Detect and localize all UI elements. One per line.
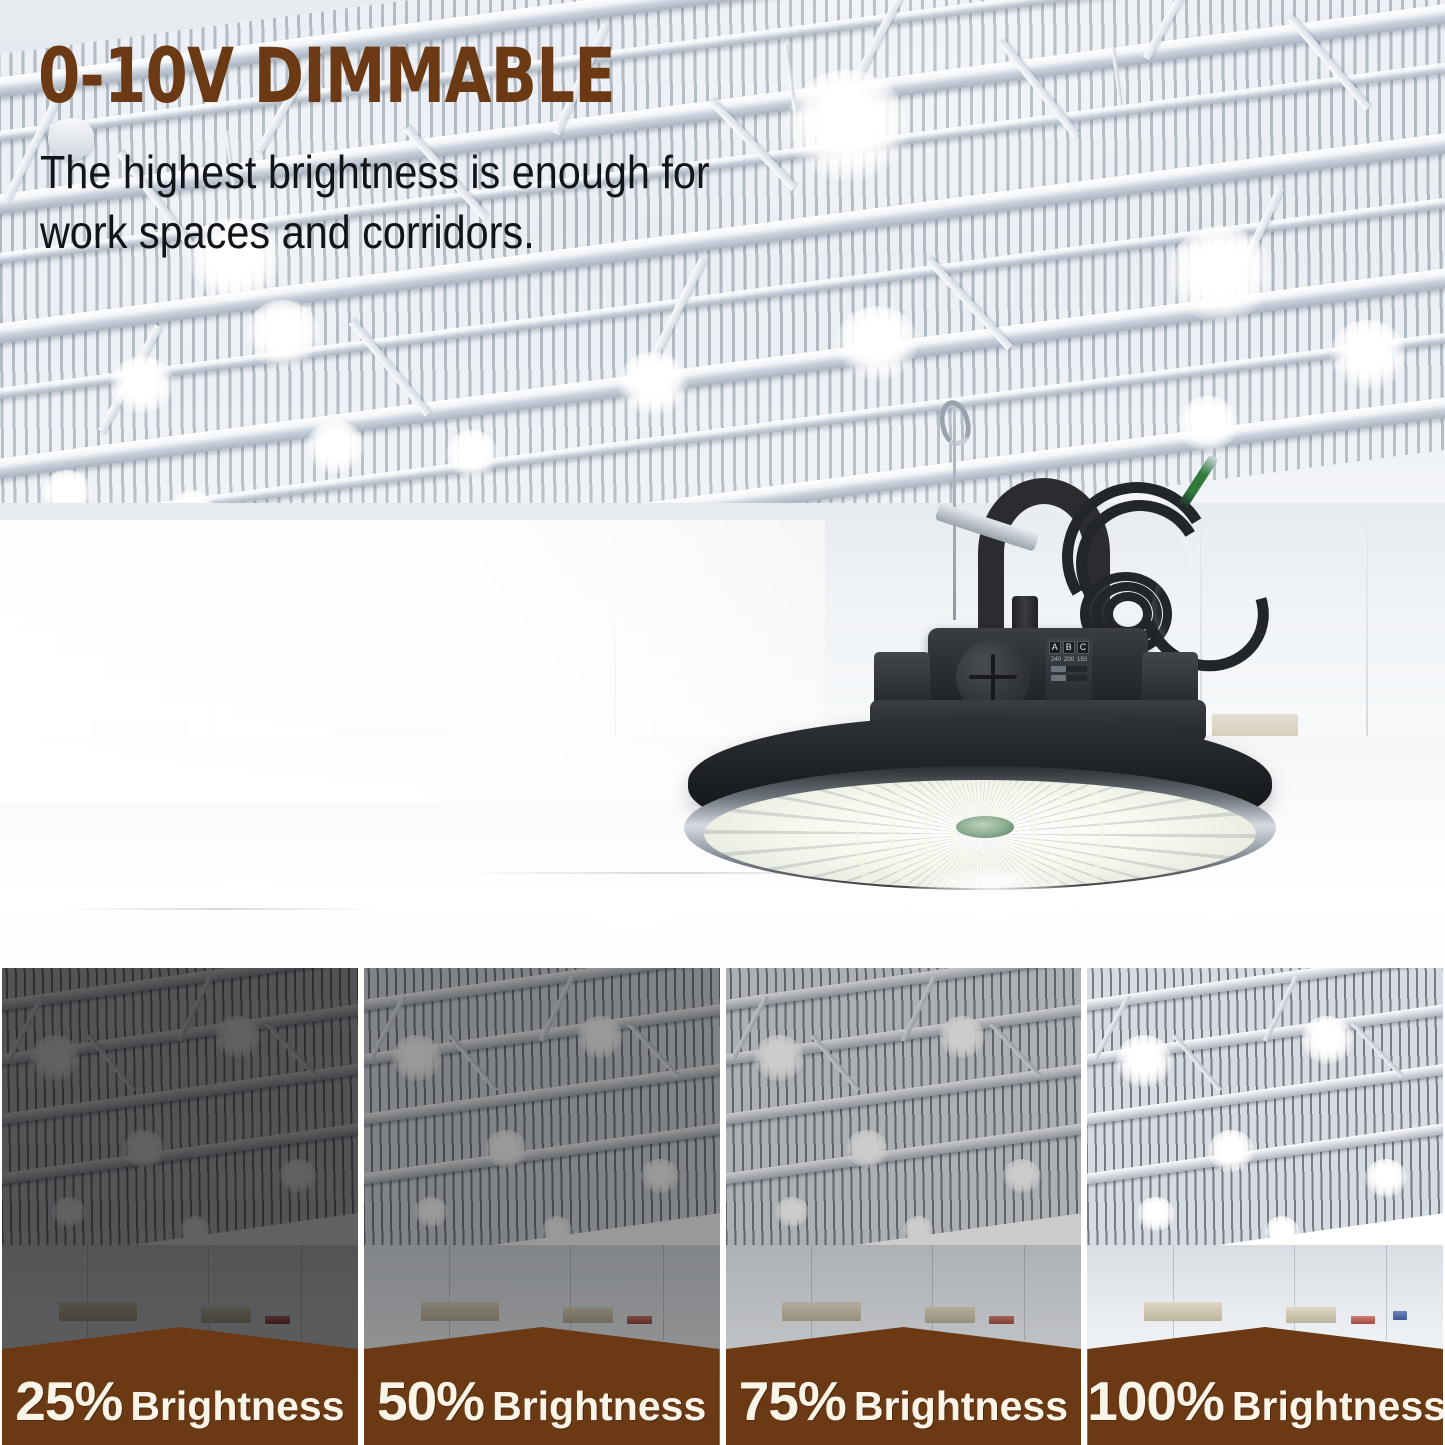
floor-reflection	[120, 860, 380, 930]
comparison-panel-50[interactable]: 50%Brightness	[364, 968, 720, 1445]
page-subtitle: The highest brightness is enough for wor…	[40, 143, 710, 263]
abc-letter-b: B	[1063, 641, 1075, 654]
comparison-panel-25[interactable]: 25%Brightness	[2, 968, 358, 1445]
product-marketing-image: A B C 240 200 150	[0, 0, 1445, 1445]
abc-letter-a: A	[1049, 641, 1061, 654]
brightness-label: 75%Brightness	[726, 1374, 1082, 1429]
ceiling-lamp-glow	[446, 430, 498, 478]
comparison-panel-100[interactable]: 100%Brightness	[1087, 968, 1443, 1445]
brightness-word: Brightness	[130, 1383, 344, 1429]
wattage-a: 240	[1050, 657, 1062, 663]
brightness-percent: 25%	[15, 1370, 122, 1432]
brightness-label: 100%Brightness	[1087, 1374, 1443, 1429]
abc-letter-c: C	[1077, 641, 1090, 654]
ceiling-lamp-glow	[246, 300, 320, 368]
abc-wattages: 240 200 150	[1050, 657, 1088, 663]
ufo-high-bay-light-product: A B C 240 200 150	[660, 400, 1300, 960]
comparison-panel-75[interactable]: 75%Brightness	[726, 968, 1082, 1445]
selector-switch-1	[1051, 666, 1087, 672]
abc-letters: A B C	[1049, 641, 1090, 654]
cross-slot-horizontal-icon	[969, 675, 1017, 679]
ceiling-lamp-glow	[836, 306, 918, 380]
ceiling-lamp-glow	[786, 70, 908, 182]
green-ground-wire	[1177, 454, 1218, 510]
brightness-percent: 50%	[377, 1370, 484, 1432]
brightness-comparison-strip: 25%Brightness	[0, 968, 1445, 1445]
abc-wattage-selector: A B C 240 200 150	[1046, 638, 1092, 700]
page-title: 0-10V DIMMABLE	[38, 38, 615, 114]
hero-warehouse-photo: A B C 240 200 150	[0, 0, 1445, 968]
brightness-label: 50%Brightness	[364, 1374, 720, 1429]
lens-center-module	[956, 816, 1014, 838]
brightness-percent: 100%	[1087, 1370, 1224, 1432]
wattage-b: 200	[1063, 657, 1075, 663]
ceiling-lamp-glow	[1168, 226, 1272, 322]
light-underglow	[890, 870, 1090, 956]
ceiling-lamp-glow	[1330, 320, 1406, 390]
wattage-c: 150	[1076, 657, 1088, 663]
floor-scuff	[60, 908, 380, 910]
brightness-percent: 75%	[739, 1370, 846, 1432]
wall-seam	[1366, 503, 1368, 755]
ceiling-lamp-glow	[110, 356, 174, 414]
brightness-word: Brightness	[1232, 1383, 1443, 1429]
ceiling-lamp-glow	[306, 420, 364, 474]
selector-switch-2	[1051, 675, 1087, 681]
brightness-label: 25%Brightness	[2, 1374, 358, 1429]
brightness-word: Brightness	[492, 1383, 706, 1429]
brightness-word: Brightness	[854, 1383, 1068, 1429]
